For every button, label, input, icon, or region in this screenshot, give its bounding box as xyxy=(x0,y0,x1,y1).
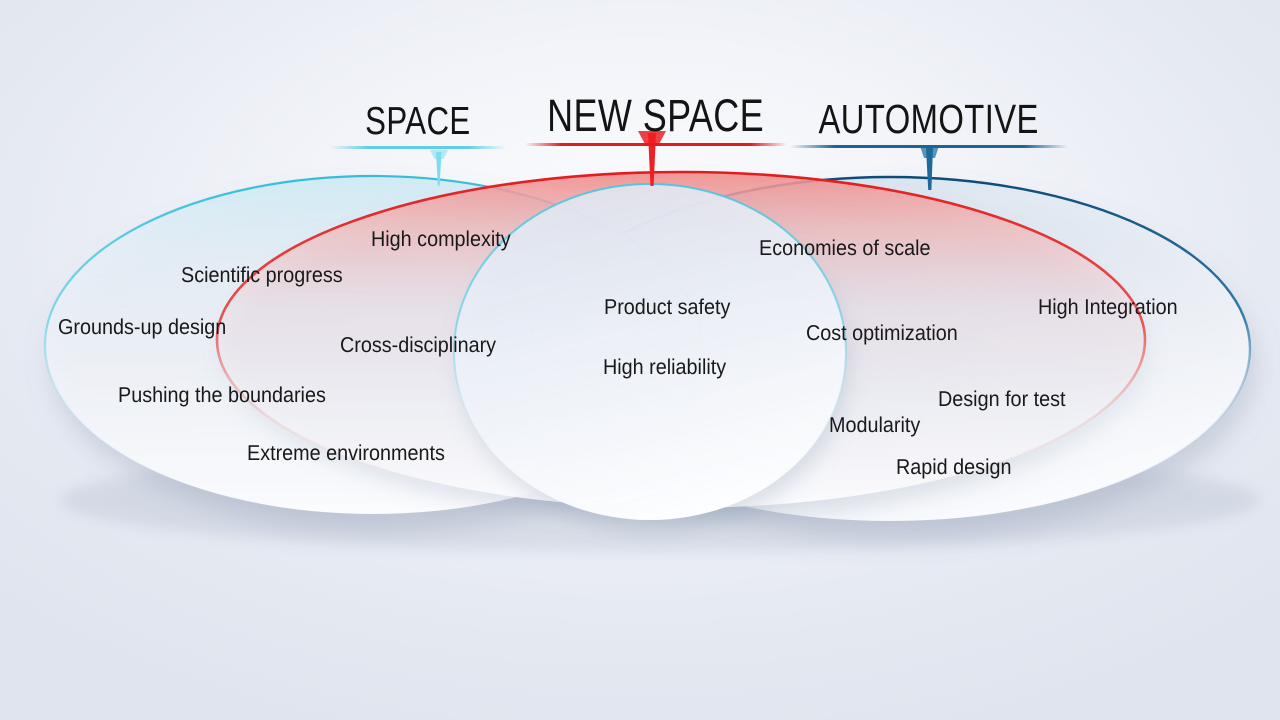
header-automotive-underline xyxy=(790,145,1068,148)
header-automotive-label: AUTOMOTIVE xyxy=(819,99,1039,140)
venn-label-extreme-environments: Extreme environments xyxy=(247,441,445,466)
venn-label-grounds-up-design: Grounds-up design xyxy=(58,315,226,340)
venn-label-high-complexity: High complexity xyxy=(371,227,511,252)
venn-label-cost-optimization: Cost optimization xyxy=(806,321,958,346)
venn-label-pushing-the-boundaries: Pushing the boundaries xyxy=(118,383,326,408)
venn-label-cross-disciplinary: Cross-disciplinary xyxy=(340,333,496,358)
venn-label-design-for-test: Design for test xyxy=(938,387,1066,412)
header-new-space[interactable]: NEW SPACE xyxy=(520,93,791,146)
header-new-space-label: NEW SPACE xyxy=(547,93,764,138)
header-automotive[interactable]: AUTOMOTIVE xyxy=(790,99,1068,148)
venn-label-modularity: Modularity xyxy=(829,413,920,438)
header-space-label: SPACE xyxy=(365,102,470,141)
venn-label-high-integration: High Integration xyxy=(1038,295,1178,320)
set-center-intersection xyxy=(454,184,846,520)
venn-label-product-safety: Product safety xyxy=(604,295,730,320)
venn-label-rapid-design: Rapid design xyxy=(896,455,1011,480)
header-space-underline xyxy=(330,146,506,149)
venn-label-scientific-progress: Scientific progress xyxy=(181,263,343,288)
header-space[interactable]: SPACE xyxy=(330,102,506,149)
venn-diagram-canvas: SPACE NEW SPACE AUTOMOTIVE Grounds-up de… xyxy=(0,0,1280,720)
header-new-space-underline xyxy=(525,143,787,146)
venn-label-high-reliability: High reliability xyxy=(603,355,726,380)
venn-label-economies-of-scale: Economies of scale xyxy=(759,236,931,261)
